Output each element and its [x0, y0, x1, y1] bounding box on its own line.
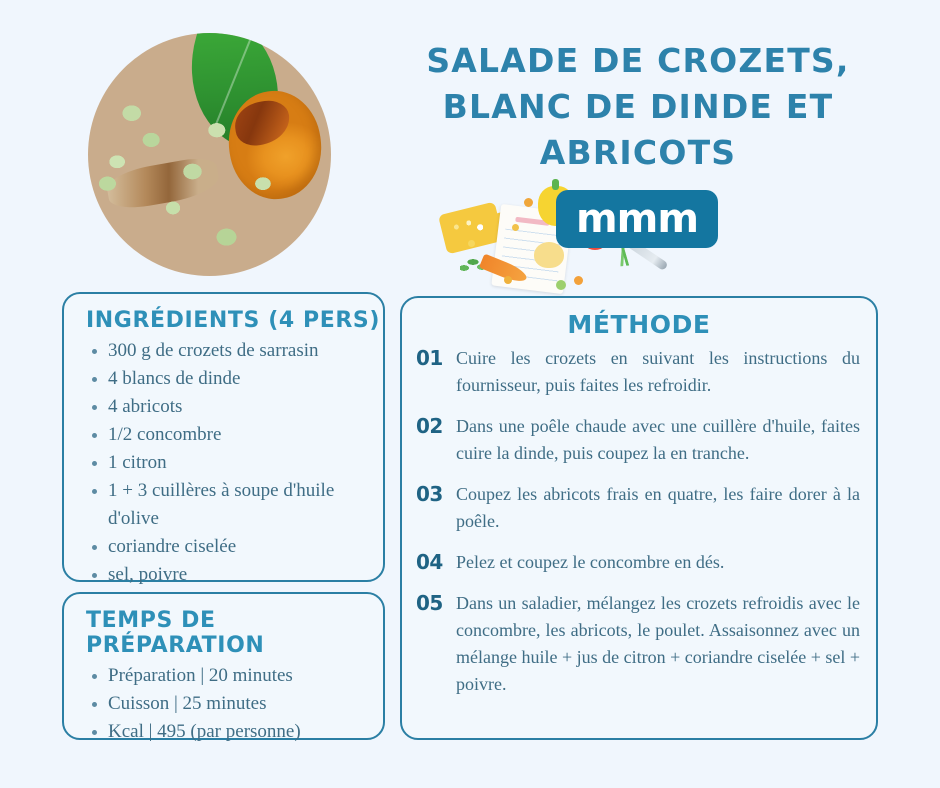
- onion-icon: [534, 242, 564, 268]
- method-step-text: Dans un saladier, mélangez les crozets r…: [456, 590, 860, 698]
- method-step: 03Coupez les abricots frais en quatre, l…: [416, 481, 860, 535]
- method-step-number: 04: [416, 549, 456, 576]
- grilled-turkey-slice: [105, 155, 222, 213]
- brand-cluster: mmm: [438, 180, 738, 292]
- page-title: SALADE DE CROZETS, BLANC DE DINDE ET ABR…: [398, 38, 878, 176]
- list-item: 1/2 concombre: [90, 421, 365, 449]
- ingredients-heading: INGRÉDIENTS (4 PERS): [86, 308, 383, 333]
- method-step-number: 05: [416, 590, 456, 617]
- method-step-text: Dans une poêle chaude avec une cuillère …: [456, 413, 860, 467]
- food-crumb-icon: [504, 276, 512, 284]
- list-item: 4 abricots: [90, 393, 365, 421]
- method-step-number: 01: [416, 345, 456, 372]
- food-crumb-icon: [524, 198, 533, 207]
- salad-photo-image: [88, 33, 331, 276]
- recipe-photo: [88, 33, 331, 276]
- food-crumb-icon: [512, 224, 519, 231]
- method-step-text: Pelez et coupez le concombre en dés.: [456, 549, 860, 576]
- preparation-time-heading: TEMPS DE PRÉPARATION: [86, 608, 383, 658]
- list-item: 300 g de crozets de sarrasin: [90, 337, 365, 365]
- list-item: Cuisson | 25 minutes: [90, 690, 365, 718]
- basil-leaf-icon: [171, 33, 300, 155]
- food-crumb-icon: [574, 276, 583, 285]
- brand-logo-text: mmm: [576, 199, 698, 239]
- method-step-text: Cuire les crozets en suivant les instruc…: [456, 345, 860, 399]
- grilled-apricot-half: [222, 85, 328, 205]
- method-panel: MÉTHODE 01Cuire les crozets en suivant l…: [400, 296, 878, 740]
- recipe-header: SALADE DE CROZETS, BLANC DE DINDE ET ABR…: [0, 0, 940, 290]
- method-step: 04Pelez et coupez le concombre en dés.: [416, 549, 860, 576]
- preparation-time-list: Préparation | 20 minutesCuisson | 25 min…: [64, 662, 383, 746]
- method-step-number: 02: [416, 413, 456, 440]
- ingredients-panel: INGRÉDIENTS (4 PERS) 300 g de crozets de…: [62, 292, 385, 582]
- method-step: 02Dans une poêle chaude avec une cuillèr…: [416, 413, 860, 467]
- method-step: 01Cuire les crozets en suivant les instr…: [416, 345, 860, 399]
- preparation-time-panel: TEMPS DE PRÉPARATION Préparation | 20 mi…: [62, 592, 385, 740]
- list-item: sel, poivre: [90, 561, 365, 589]
- list-item: 4 blancs de dinde: [90, 365, 365, 393]
- list-item: 1 + 3 cuillères à soupe d'huile d'olive: [90, 477, 365, 533]
- list-item: 1 citron: [90, 449, 365, 477]
- method-steps: 01Cuire les crozets en suivant les instr…: [402, 345, 876, 698]
- list-item: Préparation | 20 minutes: [90, 662, 365, 690]
- method-heading: MÉTHODE: [402, 310, 876, 339]
- food-crumb-icon: [468, 240, 475, 247]
- method-step-text: Coupez les abricots frais en quatre, les…: [456, 481, 860, 535]
- food-crumb-icon: [556, 280, 566, 290]
- list-item: coriandre ciselée: [90, 533, 365, 561]
- method-step-number: 03: [416, 481, 456, 508]
- list-item: Kcal | 495 (par personne): [90, 718, 365, 746]
- brand-logo-badge[interactable]: mmm: [556, 190, 718, 248]
- ingredients-list: 300 g de crozets de sarrasin4 blancs de …: [64, 337, 383, 589]
- method-step: 05Dans un saladier, mélangez les crozets…: [416, 590, 860, 698]
